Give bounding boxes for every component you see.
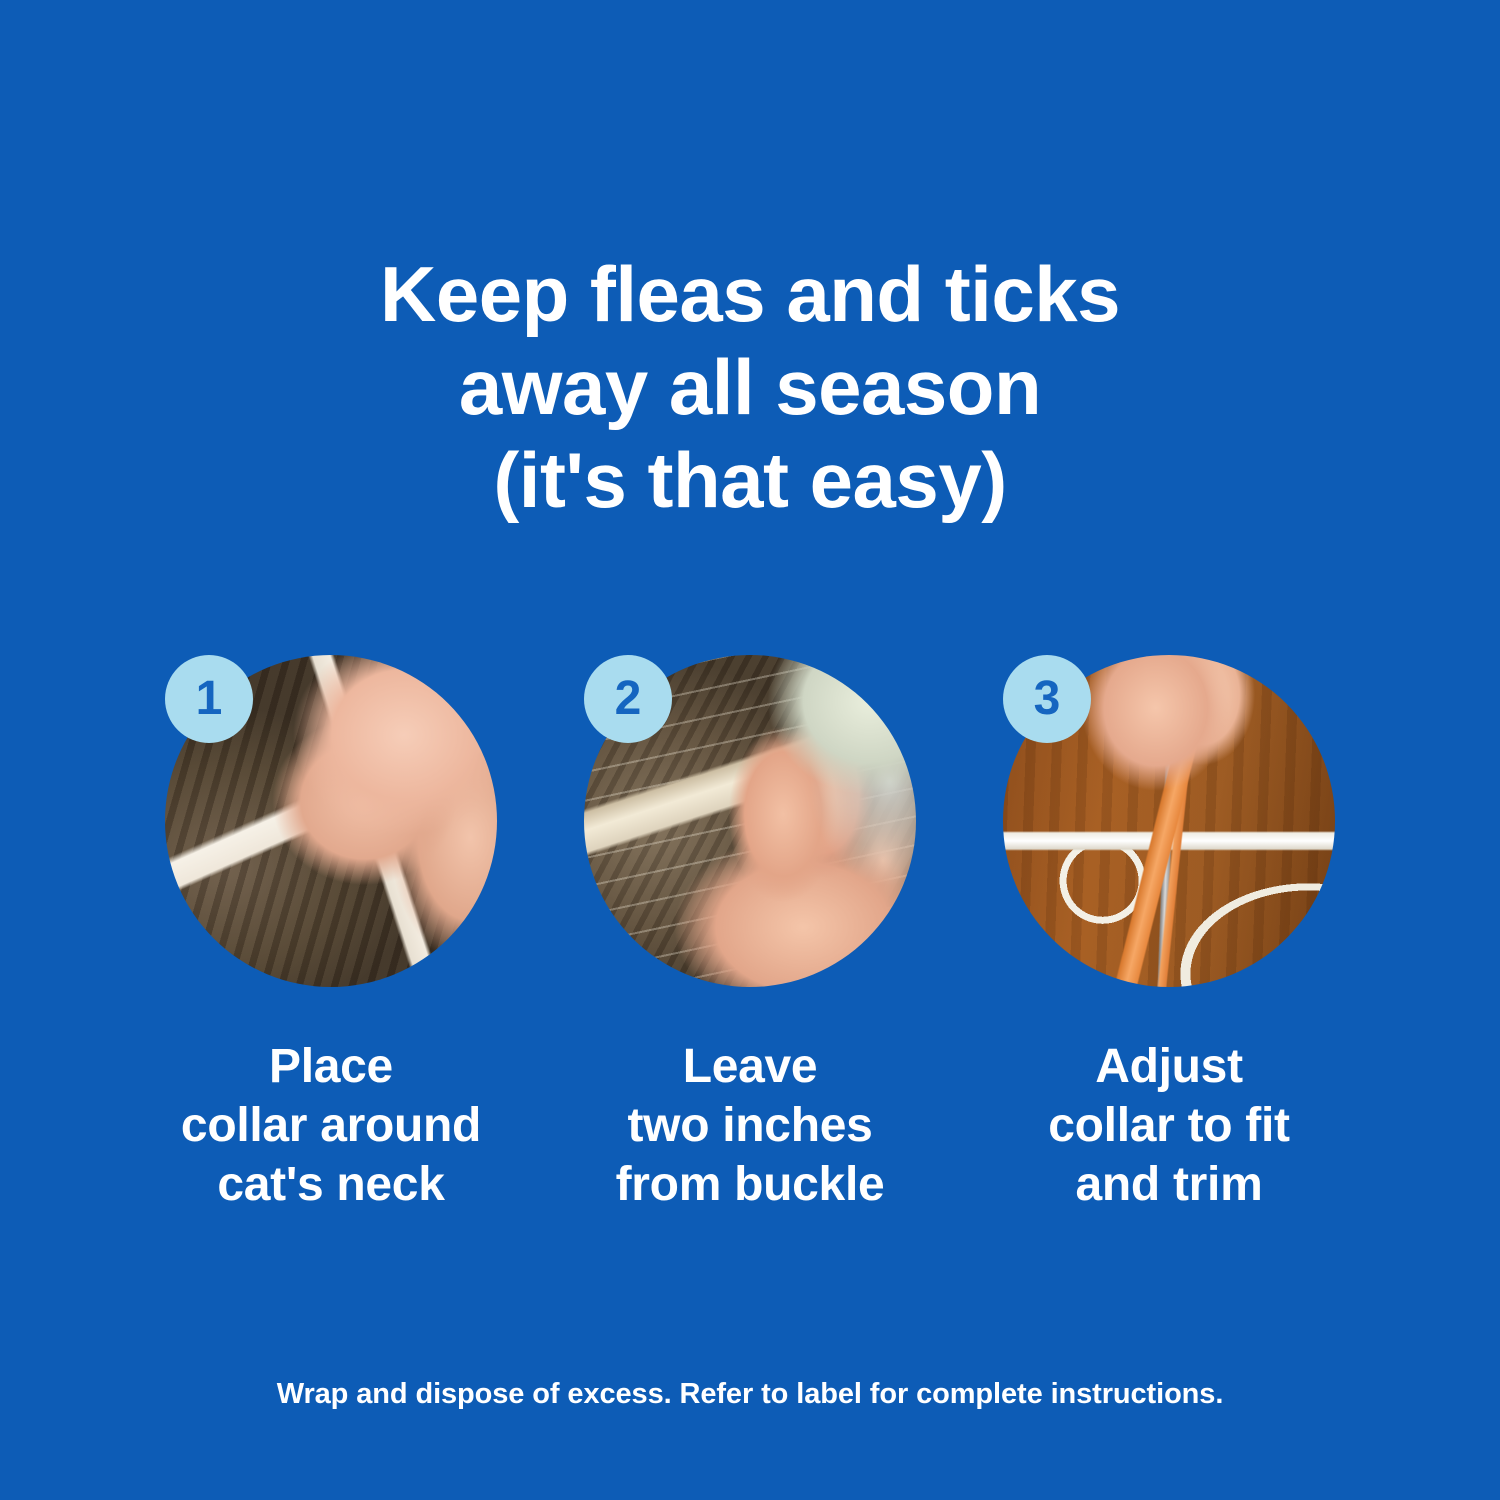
steps-row: 1 Place collar around cat's neck 2 Leave…: [0, 655, 1500, 1214]
step-1-caption: Place collar around cat's neck: [165, 1037, 497, 1214]
step-3: 3 Adjust collar to fit and trim: [1003, 655, 1335, 1214]
footer-disclaimer: Wrap and dispose of excess. Refer to lab…: [0, 1378, 1500, 1411]
headline-line-1: Keep fleas and ticks: [0, 248, 1500, 341]
headline-line-2: away all season: [0, 341, 1500, 434]
headline: Keep fleas and ticks away all season (it…: [0, 248, 1500, 527]
step-3-photo-wrap: 3: [1003, 655, 1335, 987]
step-3-caption-line-2: collar to fit: [1003, 1096, 1335, 1155]
step-1: 1 Place collar around cat's neck: [165, 655, 497, 1214]
step-2-caption-line-1: Leave: [584, 1037, 916, 1096]
step-3-caption-line-3: and trim: [1003, 1155, 1335, 1214]
step-3-number-badge: 3: [1003, 655, 1091, 743]
step-2-caption-line-2: two inches: [584, 1096, 916, 1155]
step-3-caption: Adjust collar to fit and trim: [1003, 1037, 1335, 1214]
step-2: 2 Leave two inches from buckle: [584, 655, 916, 1214]
step-1-photo-wrap: 1: [165, 655, 497, 987]
step-2-number-badge: 2: [584, 655, 672, 743]
step-2-caption: Leave two inches from buckle: [584, 1037, 916, 1214]
headline-line-3: (it's that easy): [0, 434, 1500, 527]
step-1-number-badge: 1: [165, 655, 253, 743]
step-1-caption-line-1: Place: [165, 1037, 497, 1096]
promo-infographic: Keep fleas and ticks away all season (it…: [0, 0, 1500, 1500]
step-3-caption-line-1: Adjust: [1003, 1037, 1335, 1096]
step-1-caption-line-2: collar around: [165, 1096, 497, 1155]
step-2-photo-wrap: 2: [584, 655, 916, 987]
step-1-caption-line-3: cat's neck: [165, 1155, 497, 1214]
step-2-caption-line-3: from buckle: [584, 1155, 916, 1214]
